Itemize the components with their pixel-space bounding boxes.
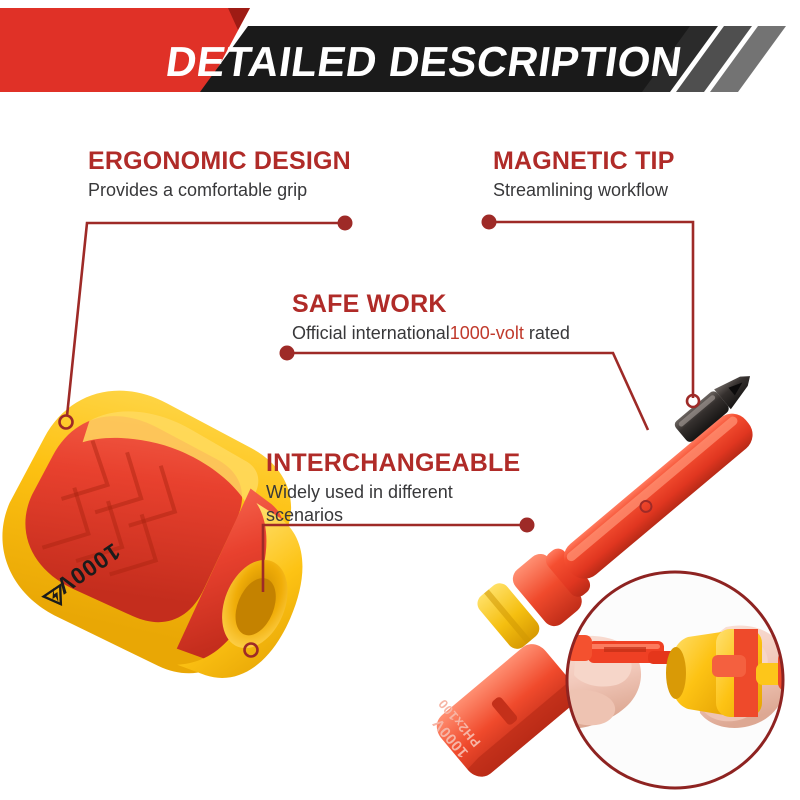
callout-magnetic-tip: MAGNETIC TIP Streamlining workflow (493, 148, 675, 202)
callout-description: Official international1000-volt rated (292, 322, 570, 345)
callout-description-pre: Official international (292, 323, 450, 343)
callout-title: MAGNETIC TIP (493, 148, 675, 174)
callout-title: INTERCHANGEABLE (266, 450, 520, 476)
callout-title: ERGONOMIC DESIGN (88, 148, 351, 174)
infographic-canvas: DETAILED DESCRIPTION (0, 0, 800, 800)
callout-title: SAFE WORK (292, 291, 570, 317)
banner-title: DETAILED DESCRIPTION (163, 38, 685, 85)
callout-description: Widely used in different scenarios (266, 481, 486, 526)
callout-description-highlight: 1000-volt (450, 323, 524, 343)
callout-description: Provides a comfortable grip (88, 179, 351, 202)
callout-interchangeable: INTERCHANGEABLE Widely used in different… (266, 450, 520, 526)
screwdriver-handle: 1000V (0, 360, 353, 714)
callout-description-post: rated (524, 323, 570, 343)
callout-ergonomic-design: ERGONOMIC DESIGN Provides a comfortable … (88, 148, 351, 202)
callout-safe-work: SAFE WORK Official international1000-vol… (292, 291, 570, 345)
shaft-rod-highlight (565, 415, 739, 563)
shaft-rod (557, 406, 760, 586)
callout-description: Streamlining workflow (493, 179, 675, 202)
header-banner: DETAILED DESCRIPTION (0, 0, 800, 110)
